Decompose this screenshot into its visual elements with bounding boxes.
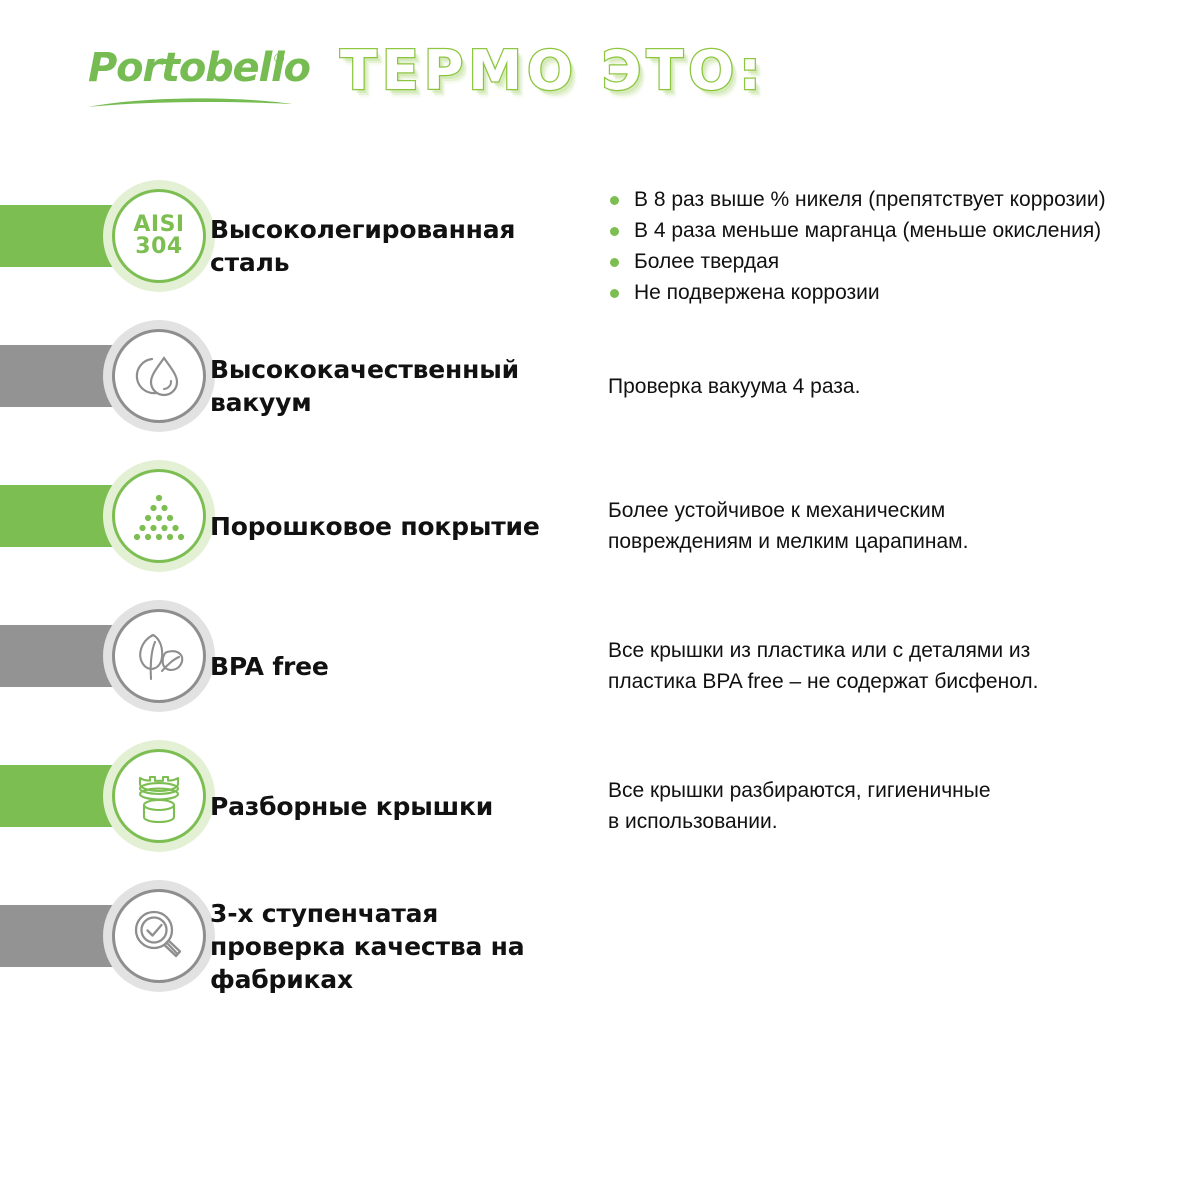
bullet-list: В 8 раз выше % никеля (препятствует корр… — [608, 184, 1193, 308]
water-drop-icon — [112, 329, 206, 423]
badge-halo — [103, 740, 215, 852]
list-item: Более твердая — [608, 246, 1193, 277]
description-line: в использовании. — [608, 806, 1193, 837]
feature-title: Высококачественный вакуум — [210, 316, 580, 456]
feature-description: Все крышки из пластика или с деталями из… — [608, 596, 1193, 736]
logo-swoosh-icon — [86, 94, 294, 110]
feature-description: Все крышки разбираются, гигиеничные в ис… — [608, 736, 1193, 876]
feature-row-quality-check: 3-х ступенчатая проверка качества на фаб… — [0, 876, 1200, 1016]
feature-row-bpa-free: BPA free Все крышки из пластика или с де… — [0, 596, 1200, 736]
disassemblable-lid-icon — [112, 749, 206, 843]
description-line: повреждениям и мелким царапинам. — [608, 526, 1193, 557]
feature-row-powder-coating: Порошковое покрытие Более устойчивое к м… — [0, 456, 1200, 596]
feature-row-steel: AISI 304 Высоколегированная сталь В 8 ра… — [0, 176, 1200, 316]
badge-halo — [103, 880, 215, 992]
badge-halo — [103, 600, 215, 712]
feature-title: Порошковое покрытие — [210, 456, 580, 596]
list-item: В 8 раз выше % никеля (препятствует корр… — [608, 184, 1193, 215]
badge-halo — [103, 320, 215, 432]
page-title: ТЕРМО ЭТО: — [340, 44, 766, 98]
description-line: Проверка вакуума 4 раза. — [608, 371, 1193, 402]
badge-line-2: 304 — [133, 236, 184, 258]
feature-row-vacuum: Высококачественный вакуум Проверка вакуу… — [0, 316, 1200, 456]
powder-dots-icon — [112, 469, 206, 563]
description-line: Все крышки разбираются, гигиеничные — [608, 775, 1193, 806]
description-line: пластика BPA free – не содержат бисфенол… — [608, 666, 1193, 697]
page-header: Portobello ® ТЕРМО ЭТО: — [0, 0, 1200, 160]
badge-halo: AISI 304 — [103, 180, 215, 292]
feature-title: Высоколегированная сталь — [210, 176, 580, 316]
magnifier-check-icon — [112, 889, 206, 983]
feature-list: AISI 304 Высоколегированная сталь В 8 ра… — [0, 176, 1200, 1016]
feature-row-lids: Разборные крышки Все крышки разбираются,… — [0, 736, 1200, 876]
registered-trademark-icon: ® — [274, 50, 284, 66]
leaves-icon — [112, 609, 206, 703]
badge-halo — [103, 460, 215, 572]
list-item: В 4 раза меньше марганца (меньше окислен… — [608, 215, 1193, 246]
feature-title: 3-х ступенчатая проверка качества на фаб… — [210, 876, 580, 1016]
feature-title: Разборные крышки — [210, 736, 580, 876]
aisi-304-badge-icon: AISI 304 — [112, 189, 206, 283]
feature-title: BPA free — [210, 596, 580, 736]
feature-description: В 8 раз выше % никеля (препятствует корр… — [608, 176, 1193, 316]
badge-line-1: AISI — [133, 214, 184, 236]
feature-description: Более устойчивое к механическим поврежде… — [608, 456, 1193, 596]
feature-description — [608, 876, 1193, 1016]
description-line: Все крышки из пластика или с деталями из — [608, 635, 1193, 666]
list-item: Не подвержена коррозии — [608, 277, 1193, 308]
description-line: Более устойчивое к механическим — [608, 495, 1193, 526]
feature-description: Проверка вакуума 4 раза. — [608, 316, 1193, 456]
portobello-logo: Portobello ® — [88, 48, 298, 114]
